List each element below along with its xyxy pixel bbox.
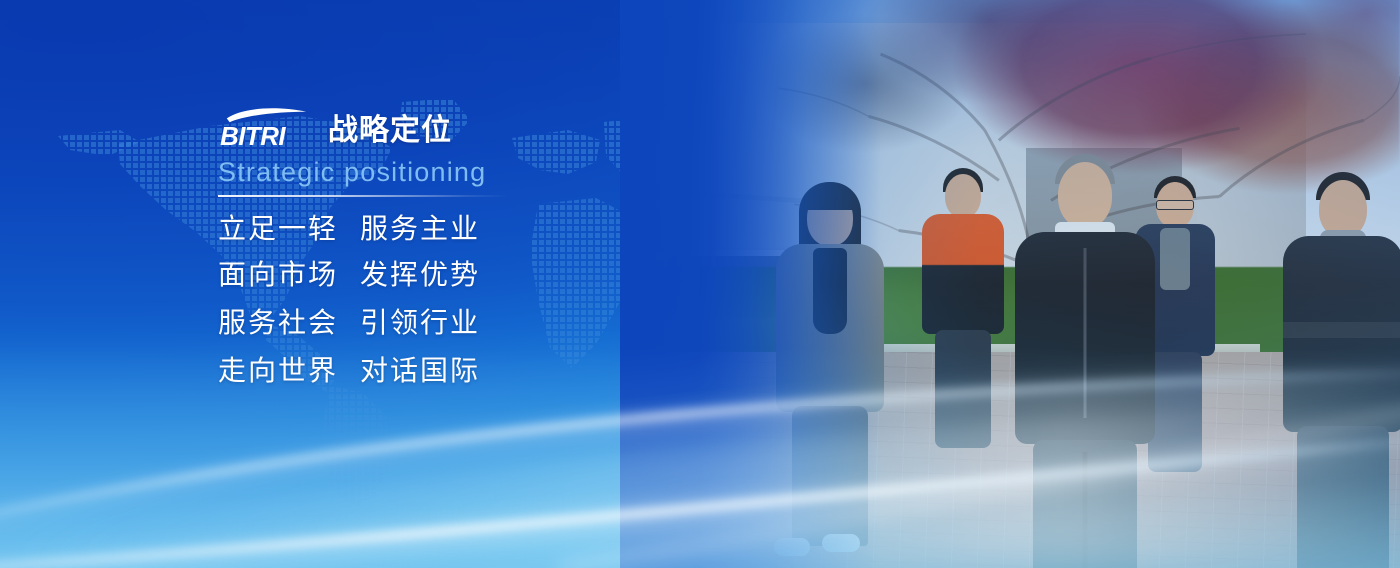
banner-content: BITRI 战略定位 Strategic positioning 立足一轻 服务… <box>218 104 678 403</box>
slogan-left: 立足一轻 <box>218 215 360 243</box>
slogan-right: 引领行业 <box>360 309 480 337</box>
officials-walking-photo <box>620 0 1400 568</box>
slogan-left: 服务社会 <box>218 309 360 337</box>
slogan-line: 面向市场 发挥优势 <box>218 261 678 289</box>
slogan-line: 立足一轻 服务主业 <box>218 215 678 243</box>
brand-title-cn: 战略定位 <box>328 116 452 150</box>
slogan-right: 服务主业 <box>360 215 480 243</box>
slogan-list: 立足一轻 服务主业 面向市场 发挥优势 服务社会 引领行业 走向世界 对话国际 <box>218 215 678 385</box>
title-divider <box>218 195 508 197</box>
slogan-left: 面向市场 <box>218 261 360 289</box>
slogan-right: 发挥优势 <box>360 261 480 289</box>
brand-title-en: Strategic positioning <box>218 158 678 188</box>
strategic-positioning-banner: BITRI 战略定位 Strategic positioning 立足一轻 服务… <box>0 0 1400 568</box>
slogan-left: 走向世界 <box>218 357 360 385</box>
bitri-logo: BITRI <box>218 106 314 150</box>
slogan-line: 服务社会 引领行业 <box>218 309 678 337</box>
svg-text:BITRI: BITRI <box>220 123 286 150</box>
slogan-line: 走向世界 对话国际 <box>218 357 678 385</box>
brand-row: BITRI 战略定位 <box>218 104 678 150</box>
slogan-right: 对话国际 <box>360 357 480 385</box>
